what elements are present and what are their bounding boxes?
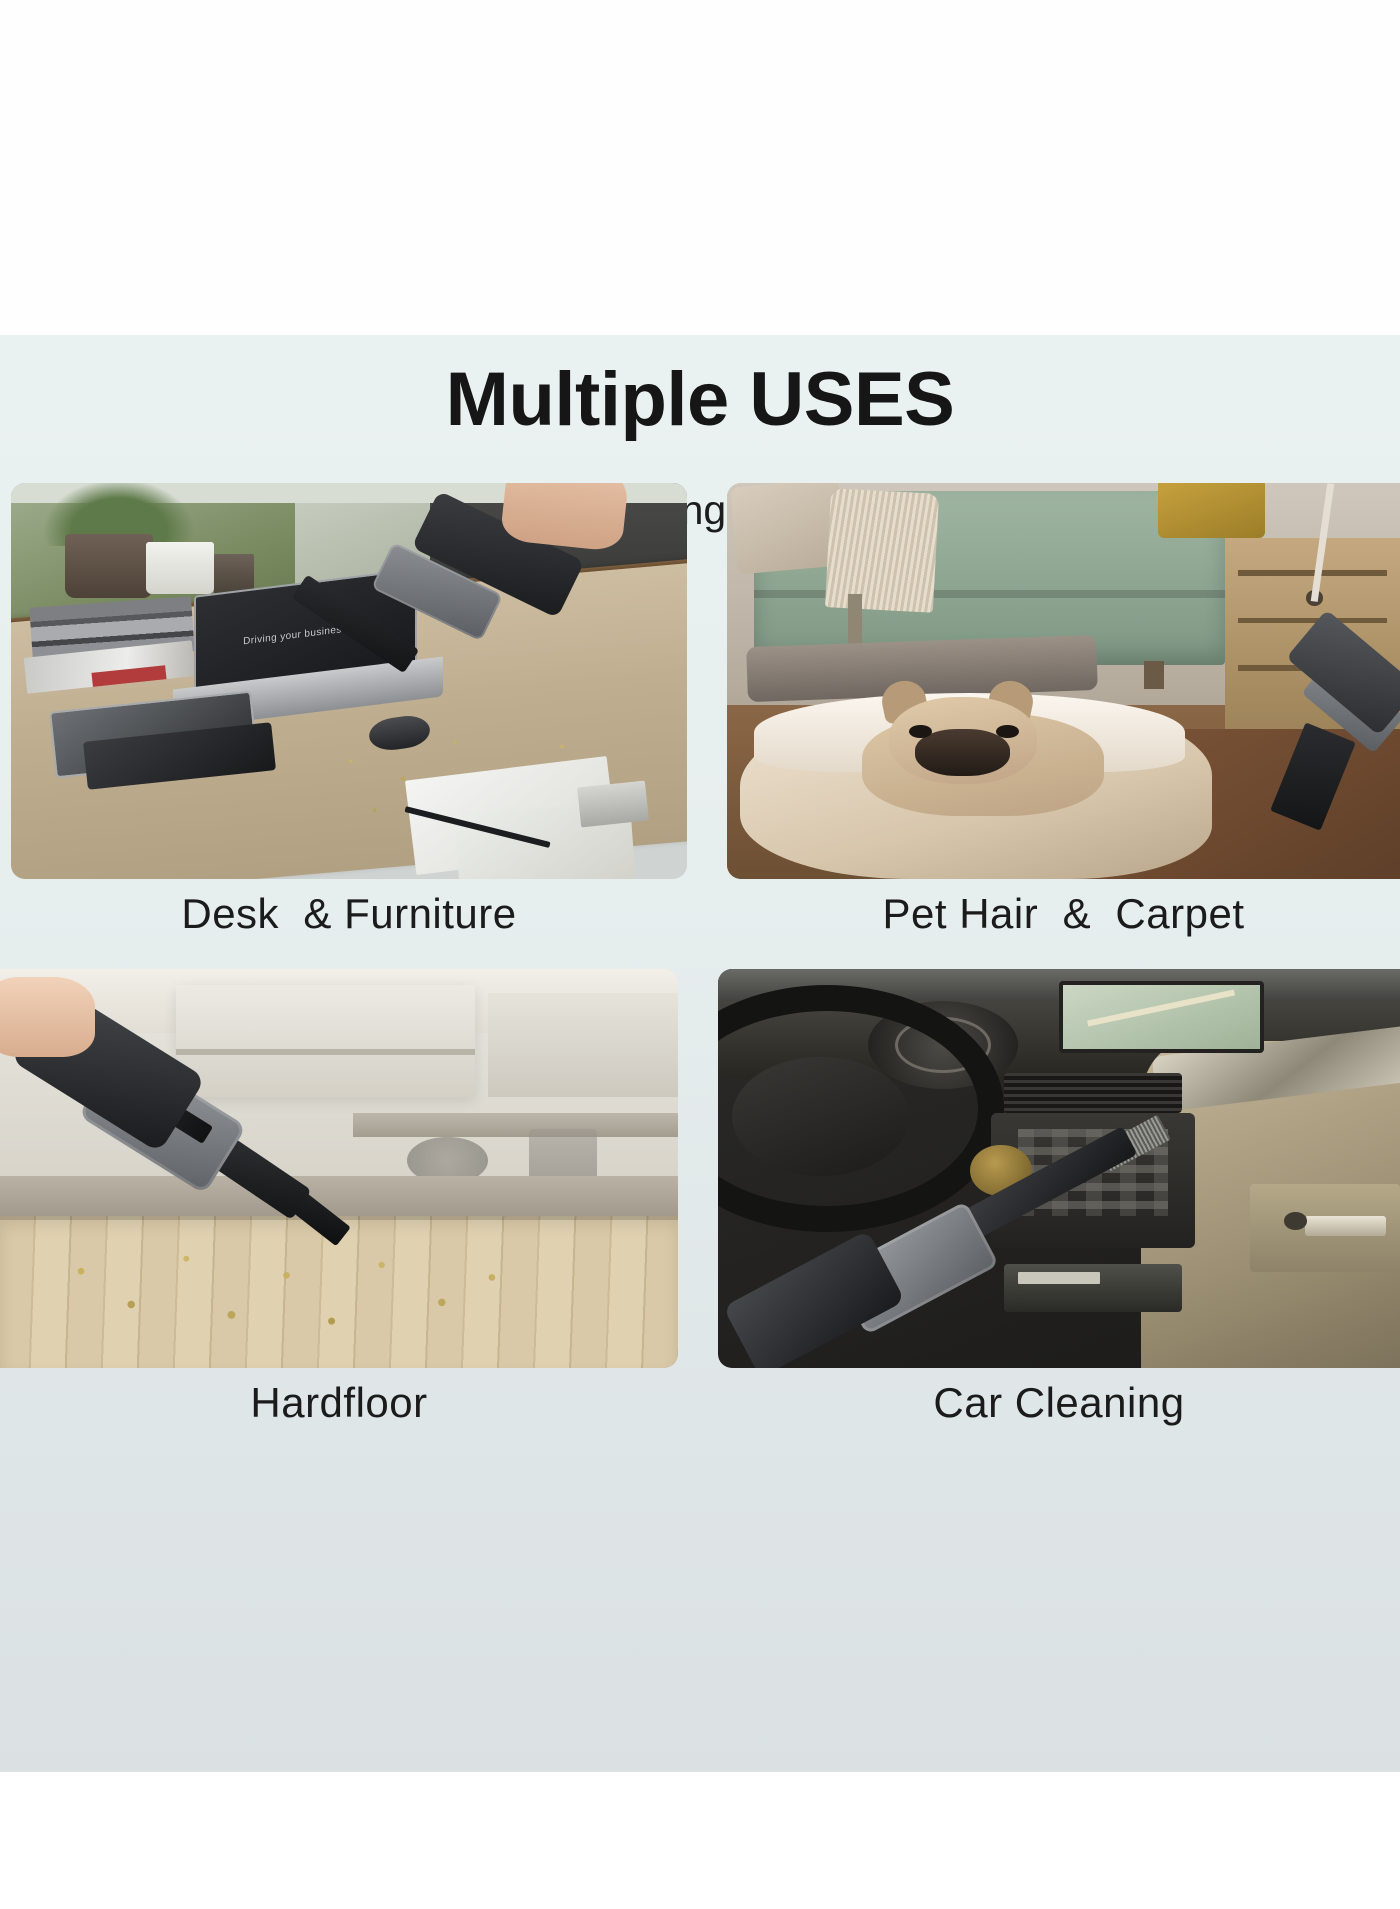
hand-holding-vacuum [0, 977, 95, 1057]
floor-debris [41, 1240, 543, 1344]
use-case-gallery: Driving your business Desk & Furni [0, 335, 1400, 1772]
air-vents [1004, 1073, 1181, 1113]
calculator [577, 781, 648, 827]
sofa-leg [1144, 661, 1164, 689]
gallery-item-car-cleaning[interactable] [718, 969, 1400, 1368]
kitchen-counter [0, 1176, 678, 1216]
kitchen-shelf [353, 1113, 678, 1137]
gallery-item-desk-furniture[interactable]: Driving your business [11, 483, 687, 879]
kitchen-cabinet [176, 985, 474, 1097]
caption-hardfloor: Hardfloor [0, 1379, 678, 1427]
photo-hardfloor [0, 969, 678, 1368]
caption-pet-hair-carpet: Pet Hair & Carpet [727, 890, 1400, 938]
glovebox-handle [1305, 1216, 1387, 1236]
glovebox-lock-icon [1284, 1212, 1307, 1230]
caption-car-cleaning: Car Cleaning [718, 1379, 1400, 1427]
dog-muzzle [915, 729, 1009, 777]
yellow-cushion [1158, 483, 1266, 538]
product-feature-page: Multiple USES All-round cleaning, no bli… [0, 0, 1400, 1909]
photo-car-cleaning [718, 969, 1400, 1368]
steering-wheel-hub [732, 1057, 909, 1177]
gallery-item-hardfloor[interactable] [0, 969, 678, 1368]
feature-content-block: Multiple USES All-round cleaning, no bli… [0, 335, 1400, 1772]
dog-eye-left [909, 725, 932, 738]
radio-display [1018, 1272, 1100, 1284]
pen-cup [214, 554, 255, 594]
dog-eye-right [996, 725, 1019, 738]
gallery-item-pet-hair-carpet[interactable] [727, 483, 1400, 879]
plant-pot [65, 534, 153, 597]
cabinet-drawer-line [1238, 570, 1386, 576]
kitchen-cabinet-right [488, 993, 678, 1097]
macrame-decor [825, 488, 939, 612]
bottom-white-band [0, 1772, 1400, 1909]
caption-desk-furniture: Desk & Furniture [11, 890, 687, 938]
photo-desk-furniture: Driving your business [11, 483, 687, 879]
cabinet-drawer-line [1238, 618, 1386, 624]
cabinet-seam [176, 1049, 474, 1055]
photo-pet-hair-carpet [727, 483, 1400, 879]
top-white-band [0, 0, 1400, 335]
white-pot [146, 542, 214, 593]
